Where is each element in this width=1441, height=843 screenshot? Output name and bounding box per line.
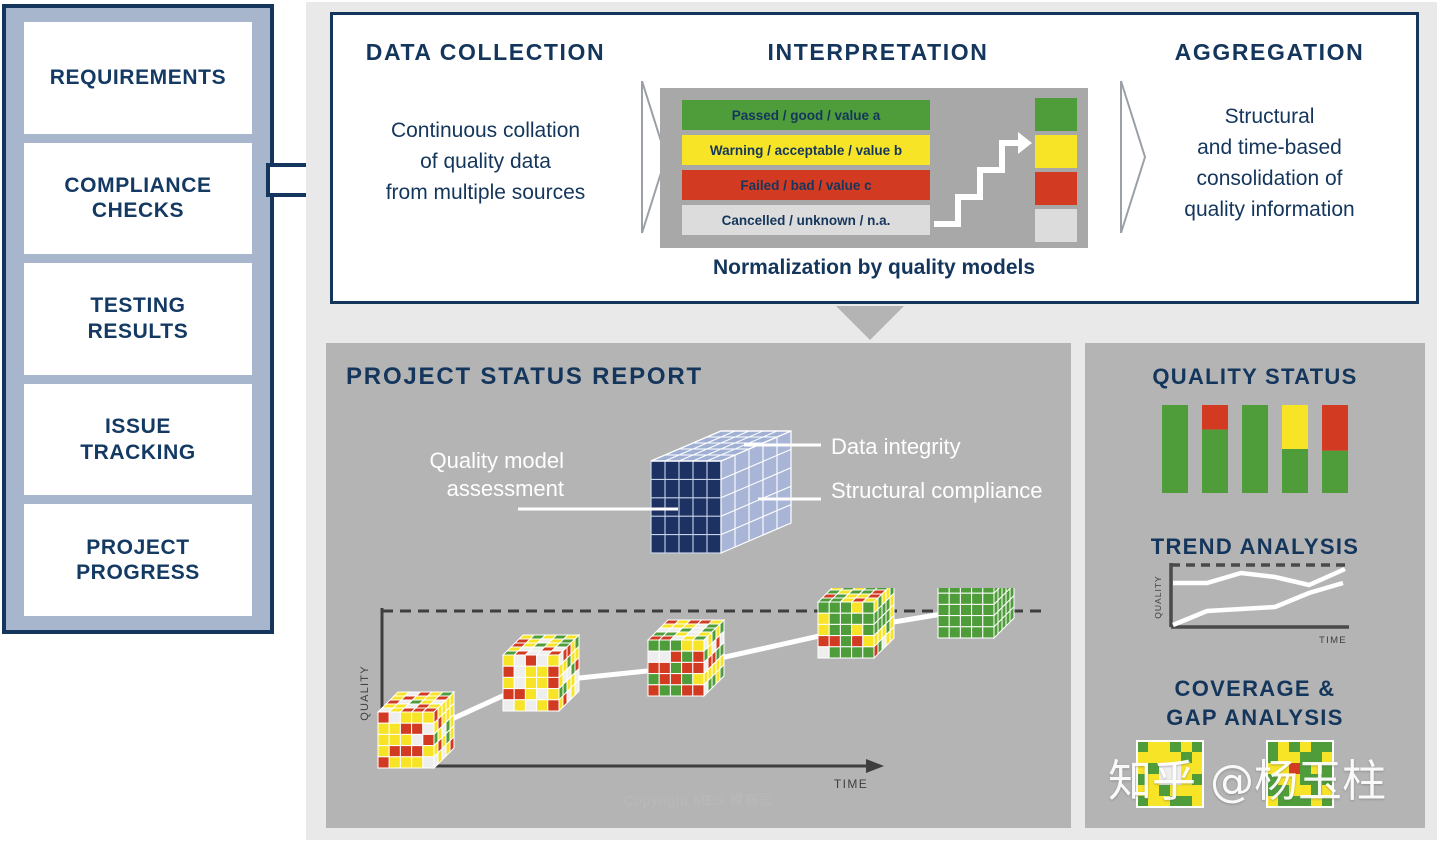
process-body-data-collection: Continuous collation of quality data fro… bbox=[333, 115, 638, 208]
quality-timeline-chart: QUALITY TIME bbox=[346, 588, 1056, 818]
legend-label-failed: Failed / bad / value c bbox=[740, 178, 871, 193]
swatch-red bbox=[1035, 172, 1077, 205]
input-sources-sidebar: REQUIREMENTS COMPLIANCE CHECKS TESTING R… bbox=[2, 4, 274, 634]
cube-label-quality-model: Quality model assessment bbox=[384, 447, 564, 502]
swatch-gray bbox=[1035, 209, 1077, 242]
interpretation-graphic: Passed / good / value a Warning / accept… bbox=[660, 88, 1088, 248]
sidebar-item-issue-tracking[interactable]: ISSUE TRACKING bbox=[24, 384, 252, 496]
swatch-yellow bbox=[1035, 135, 1077, 168]
cube-label-data-integrity: Data integrity bbox=[831, 433, 961, 461]
process-column-data-collection: DATA COLLECTION Continuous collation of … bbox=[333, 15, 638, 301]
normalization-caption: Normalization by quality models bbox=[660, 256, 1088, 280]
swatch-green bbox=[1035, 98, 1077, 131]
process-title-data-collection: DATA COLLECTION bbox=[333, 39, 638, 66]
quality-status-title: QUALITY STATUS bbox=[1085, 363, 1425, 392]
legend-row-failed: Failed / bad / value c bbox=[682, 170, 930, 200]
process-title-interpretation: INTERPRETATION bbox=[643, 39, 1113, 66]
svg-text:QUALITY: QUALITY bbox=[1153, 575, 1163, 618]
svg-text:TIME: TIME bbox=[834, 777, 868, 791]
process-body-aggregation: Structural and time-based consolidation … bbox=[1123, 101, 1416, 225]
process-title-aggregation: AGGREGATION bbox=[1123, 39, 1416, 66]
diagram-root: REQUIREMENTS COMPLIANCE CHECKS TESTING R… bbox=[0, 0, 1441, 843]
copyright-text: Copyright MES 模赛思 bbox=[326, 790, 1071, 810]
watermark-text: 知乎 @杨玉柱 bbox=[1108, 745, 1386, 809]
staircase-arrow-icon bbox=[932, 96, 1032, 236]
sidebar-item-project-progress[interactable]: PROJECT PROGRESS bbox=[24, 504, 252, 616]
svg-text:QUALITY: QUALITY bbox=[359, 665, 371, 720]
sidebar-item-requirements[interactable]: REQUIREMENTS bbox=[24, 22, 252, 134]
sidebar-item-compliance-checks[interactable]: COMPLIANCE CHECKS bbox=[24, 143, 252, 255]
page-title: PROJECT STATUS REPORT bbox=[346, 363, 703, 391]
sidebar-item-testing-results[interactable]: TESTING RESULTS bbox=[24, 263, 252, 375]
quality-status-bars bbox=[1085, 397, 1425, 507]
coverage-gap-analysis-title: COVERAGE & GAP ANALYSIS bbox=[1085, 675, 1425, 732]
legend-label-warning: Warning / acceptable / value b bbox=[710, 143, 902, 158]
process-column-aggregation: AGGREGATION Structural and time-based co… bbox=[1123, 15, 1416, 301]
legend-row-passed: Passed / good / value a bbox=[682, 100, 930, 130]
arrow-down-icon bbox=[836, 306, 904, 340]
project-status-report-panel: PROJECT STATUS REPORT bbox=[326, 343, 1071, 828]
cube-label-structural-compliance: Structural compliance bbox=[831, 477, 1043, 505]
legend-row-cancelled: Cancelled / unknown / n.a. bbox=[682, 205, 930, 235]
legend-label-cancelled: Cancelled / unknown / n.a. bbox=[722, 213, 891, 228]
svg-text:TIME: TIME bbox=[1319, 635, 1347, 646]
trend-analysis-chart: QUALITY TIME bbox=[1137, 555, 1377, 655]
legend-label-passed: Passed / good / value a bbox=[732, 108, 881, 123]
legend-row-warning: Warning / acceptable / value b bbox=[682, 135, 930, 165]
